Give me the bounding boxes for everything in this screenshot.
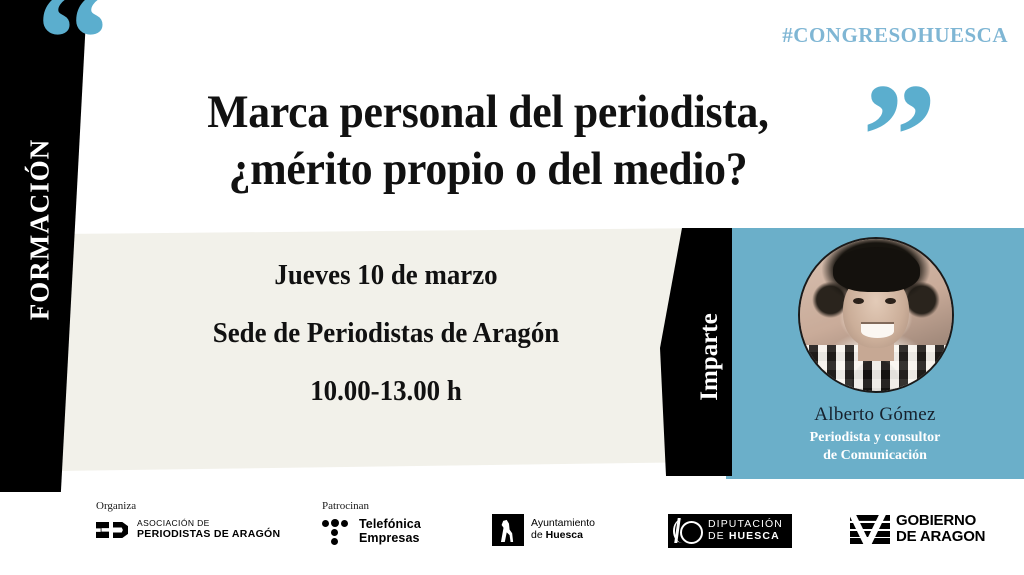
- quote-open-icon: “: [36, 0, 107, 114]
- ayuntamiento-line-2-bold: Huesca: [546, 529, 583, 541]
- logo-telefonica-empresas: Telefónica Empresas: [322, 517, 421, 545]
- gobierno-line-1: GOBIERNO: [896, 513, 985, 529]
- ayuntamiento-line-2-prefix: de: [531, 529, 546, 541]
- telefonica-logo-icon: [322, 518, 352, 544]
- quote-close-icon: ”: [862, 61, 933, 211]
- category-label: FORMACIÓN: [25, 120, 56, 340]
- logo-ayuntamiento-huesca: Ayuntamiento de Huesca: [492, 514, 595, 546]
- asociacion-line-2: PERIODISTAS DE ARAGÓN: [137, 529, 280, 541]
- speaker-role-line-2: de Comunicación: [726, 447, 1024, 465]
- logo-asociacion-periodistas: ASOCIACIÓN DE PERIODISTAS DE ARAGÓN: [96, 519, 280, 541]
- gobierno-line-2: DE ARAGON: [896, 529, 985, 545]
- diputacion-line-2-prefix: DE: [708, 530, 729, 542]
- footer: Organiza Patrocinan ASOCIACIÓN DE PERIOD…: [0, 492, 1024, 575]
- event-venue: Sede de Periodistas de Aragón: [98, 320, 674, 348]
- diputacion-line-2: DE HUESCA: [708, 531, 783, 543]
- speaker-panel: Alberto Gómez Periodista y consultor de …: [726, 228, 1024, 479]
- patrocinan-label: Patrocinan: [322, 500, 369, 512]
- event-time: 10.00-13.00 h: [98, 378, 674, 406]
- ayuntamiento-line-2: de Huesca: [531, 530, 595, 542]
- title-line-1: Marca personal del periodista,: [144, 84, 832, 141]
- ayuntamiento-logo-icon: [492, 514, 524, 546]
- diputacion-line-2-bold: HUESCA: [729, 530, 780, 542]
- avatar-hair: [833, 247, 920, 293]
- diputacion-logo-box: DIPUTACIÓN DE HUESCA: [668, 514, 792, 548]
- title-line-2: ¿mérito propio o del medio?: [144, 141, 832, 198]
- diputacion-logo-icon: [673, 518, 701, 544]
- event-poster: FORMACIÓN #CONGRESOHUESCA “ ” Marca pers…: [0, 0, 1024, 575]
- speaker-name: Alberto Gómez: [726, 404, 1024, 426]
- event-date: Jueves 10 de marzo: [98, 262, 674, 290]
- gobierno-logo-icon: [850, 514, 890, 544]
- speaker-avatar: [798, 237, 954, 393]
- page-title: Marca personal del periodista, ¿mérito p…: [118, 84, 858, 199]
- speaker-role: Periodista y consultor de Comunicación: [726, 429, 1024, 464]
- asociacion-logo-icon: [96, 519, 130, 541]
- hashtag: #CONGRESOHUESCA: [782, 23, 1008, 48]
- speaker-role-line-1: Periodista y consultor: [726, 429, 1024, 447]
- avatar-smile: [861, 324, 894, 338]
- speaker-section-label: Imparte: [696, 267, 724, 447]
- event-details: Jueves 10 de marzo Sede de Periodistas d…: [86, 262, 686, 406]
- telefonica-line-1: Telefónica: [359, 517, 421, 531]
- logo-gobierno-aragon: GOBIERNO DE ARAGON: [850, 513, 985, 545]
- telefonica-line-2: Empresas: [359, 531, 421, 545]
- logo-diputacion-huesca: DIPUTACIÓN DE HUESCA: [668, 514, 792, 548]
- organiza-label: Organiza: [96, 500, 136, 512]
